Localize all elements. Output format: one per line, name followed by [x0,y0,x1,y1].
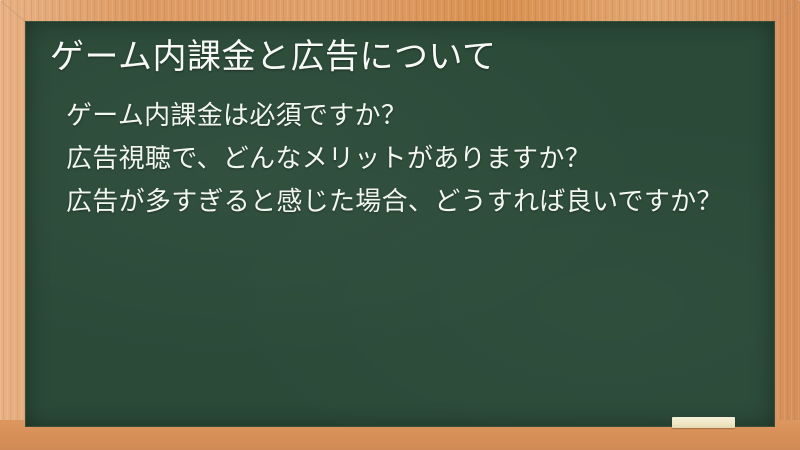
question-item: 広告視聴で、どんなメリットがありますか？ [66,141,746,178]
chalkboard-slide: ゲーム内課金と広告について ゲーム内課金は必須ですか？ 広告視聴で、どんなメリッ… [0,0,800,450]
chalkboard-surface: ゲーム内課金と広告について ゲーム内課金は必須ですか？ 広告視聴で、どんなメリッ… [26,22,774,426]
slide-title: ゲーム内課金と広告について [50,36,750,78]
chalk-stick [672,417,735,428]
question-item: ゲーム内課金は必須ですか？ [66,98,746,135]
board-content: ゲーム内課金と広告について ゲーム内課金は必須ですか？ 広告視聴で、どんなメリッ… [26,22,774,426]
question-item: 広告が多すぎると感じた場合、どうすれば良いですか？ [66,184,746,221]
question-list: ゲーム内課金は必須ですか？ 広告視聴で、どんなメリットがありますか？ 広告が多す… [50,98,750,221]
